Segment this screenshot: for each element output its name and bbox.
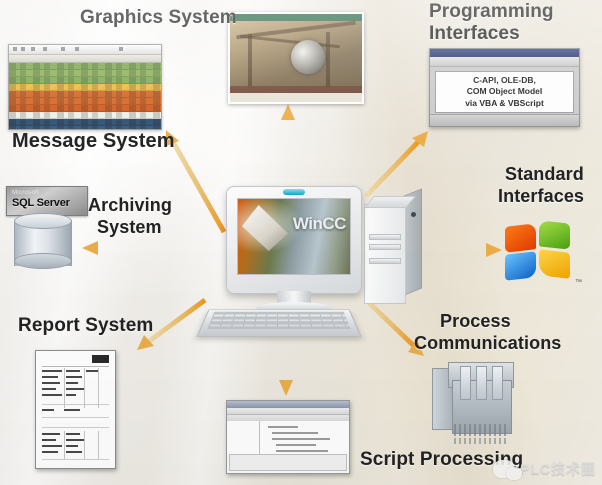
arrow-to-script-processing <box>279 344 293 396</box>
message-system-window[interactable] <box>8 44 162 130</box>
label-process-communications-line2: Communications <box>414 334 561 353</box>
label-programming-interfaces-line2: Interfaces <box>429 24 520 45</box>
tower-drive-bay-2 <box>369 244 401 250</box>
script-tree-pane[interactable] <box>227 421 260 455</box>
script-editor-window[interactable] <box>226 400 350 474</box>
windows-pane-green <box>539 220 570 249</box>
monitor-led-icon <box>283 189 305 195</box>
scene-lowerbar <box>230 86 362 93</box>
script-menubar <box>227 408 349 415</box>
tower-power-button[interactable] <box>411 212 416 217</box>
plc-module-3 <box>492 366 503 400</box>
prog-statusbar <box>430 114 579 126</box>
prog-line-2: COM Object Model <box>467 86 543 96</box>
graphics-system-image[interactable] <box>228 12 364 104</box>
plc-terminal-row-2 <box>454 438 508 444</box>
programming-interfaces-window[interactable]: C-API, OLE-DB, COM Object Model via VBA … <box>429 48 580 127</box>
label-standard-interfaces-line1: Standard <box>505 165 584 184</box>
cylinder-bottom <box>14 253 72 269</box>
scene-machine <box>291 40 325 74</box>
scene-topbar <box>230 14 362 21</box>
monitor[interactable]: WinCC <box>226 186 362 294</box>
report-logo <box>92 355 109 363</box>
plc-module-2 <box>476 366 487 400</box>
watermark: PLC技术圈 <box>493 459 596 479</box>
label-process-communications-line1: Process <box>440 312 511 331</box>
label-standard-interfaces-line2: Interfaces <box>498 187 584 206</box>
label-archiving-system-line1: Archiving <box>88 196 172 215</box>
sql-vendor: Microsoft <box>12 190 39 196</box>
windows-pane-yellow <box>539 249 570 279</box>
scene-caption-bar <box>230 93 362 102</box>
label-graphics-system: Graphics System <box>80 8 237 29</box>
label-programming-interfaces-line1: Programming <box>429 2 554 23</box>
label-archiving-system-line2: System <box>97 218 162 237</box>
tower-pc[interactable] <box>364 196 420 302</box>
sql-server-logo: Microsoft SQL Server <box>6 186 88 216</box>
arrow-to-programming-interfaces <box>366 131 428 196</box>
prog-content: C-API, OLE-DB, COM Object Model via VBA … <box>435 71 574 113</box>
tower-front-panel <box>364 204 406 304</box>
tower-drive-bay-1 <box>369 234 401 240</box>
report-document-image[interactable] <box>35 350 116 469</box>
message-column-headers <box>9 55 161 63</box>
wincc-screen-text: WinCC <box>293 214 346 234</box>
script-titlebar <box>227 401 349 408</box>
prog-line-1: C-API, OLE-DB, <box>473 75 536 85</box>
prog-menubar <box>430 57 579 67</box>
arrow-to-archiving-system <box>82 241 222 255</box>
windows-pane-orange <box>505 223 536 253</box>
sql-product: SQL Server <box>12 197 70 209</box>
label-message-system: Message System <box>12 131 175 153</box>
plc-module-1 <box>460 366 471 400</box>
windows-pane-blue <box>505 251 536 280</box>
label-report-system: Report System <box>18 316 153 337</box>
cylinder-top <box>14 213 72 229</box>
wechat-icon <box>493 460 515 478</box>
windows-trademark: ™ <box>575 279 582 286</box>
message-toolbar <box>9 45 161 55</box>
script-output-pane <box>229 454 347 471</box>
database-cylinder-icon <box>14 213 70 275</box>
arrow-to-graphics-system <box>281 104 295 182</box>
arrow-to-standard-interfaces <box>424 243 502 257</box>
script-code-pane[interactable] <box>260 421 349 455</box>
keyboard[interactable] <box>203 300 355 344</box>
message-alarm-rows <box>9 63 161 130</box>
plc-terminal-row-1 <box>454 424 508 436</box>
diagram-canvas: Message System Graphics System C-API, OL… <box>0 0 602 485</box>
monitor-screen: WinCC <box>237 198 351 275</box>
prog-titlebar <box>430 49 579 57</box>
scene-column-1 <box>248 34 252 86</box>
windows-logo-icon: ™ <box>505 222 577 284</box>
tower-drive-bay-3 <box>369 258 401 264</box>
scene-column-2 <box>326 32 330 88</box>
watermark-text: PLC技术圈 <box>520 459 596 479</box>
plc-rack-image[interactable] <box>432 362 512 448</box>
prog-line-3: via VBA & VBScript <box>465 98 544 108</box>
keyboard-keys <box>207 312 350 329</box>
